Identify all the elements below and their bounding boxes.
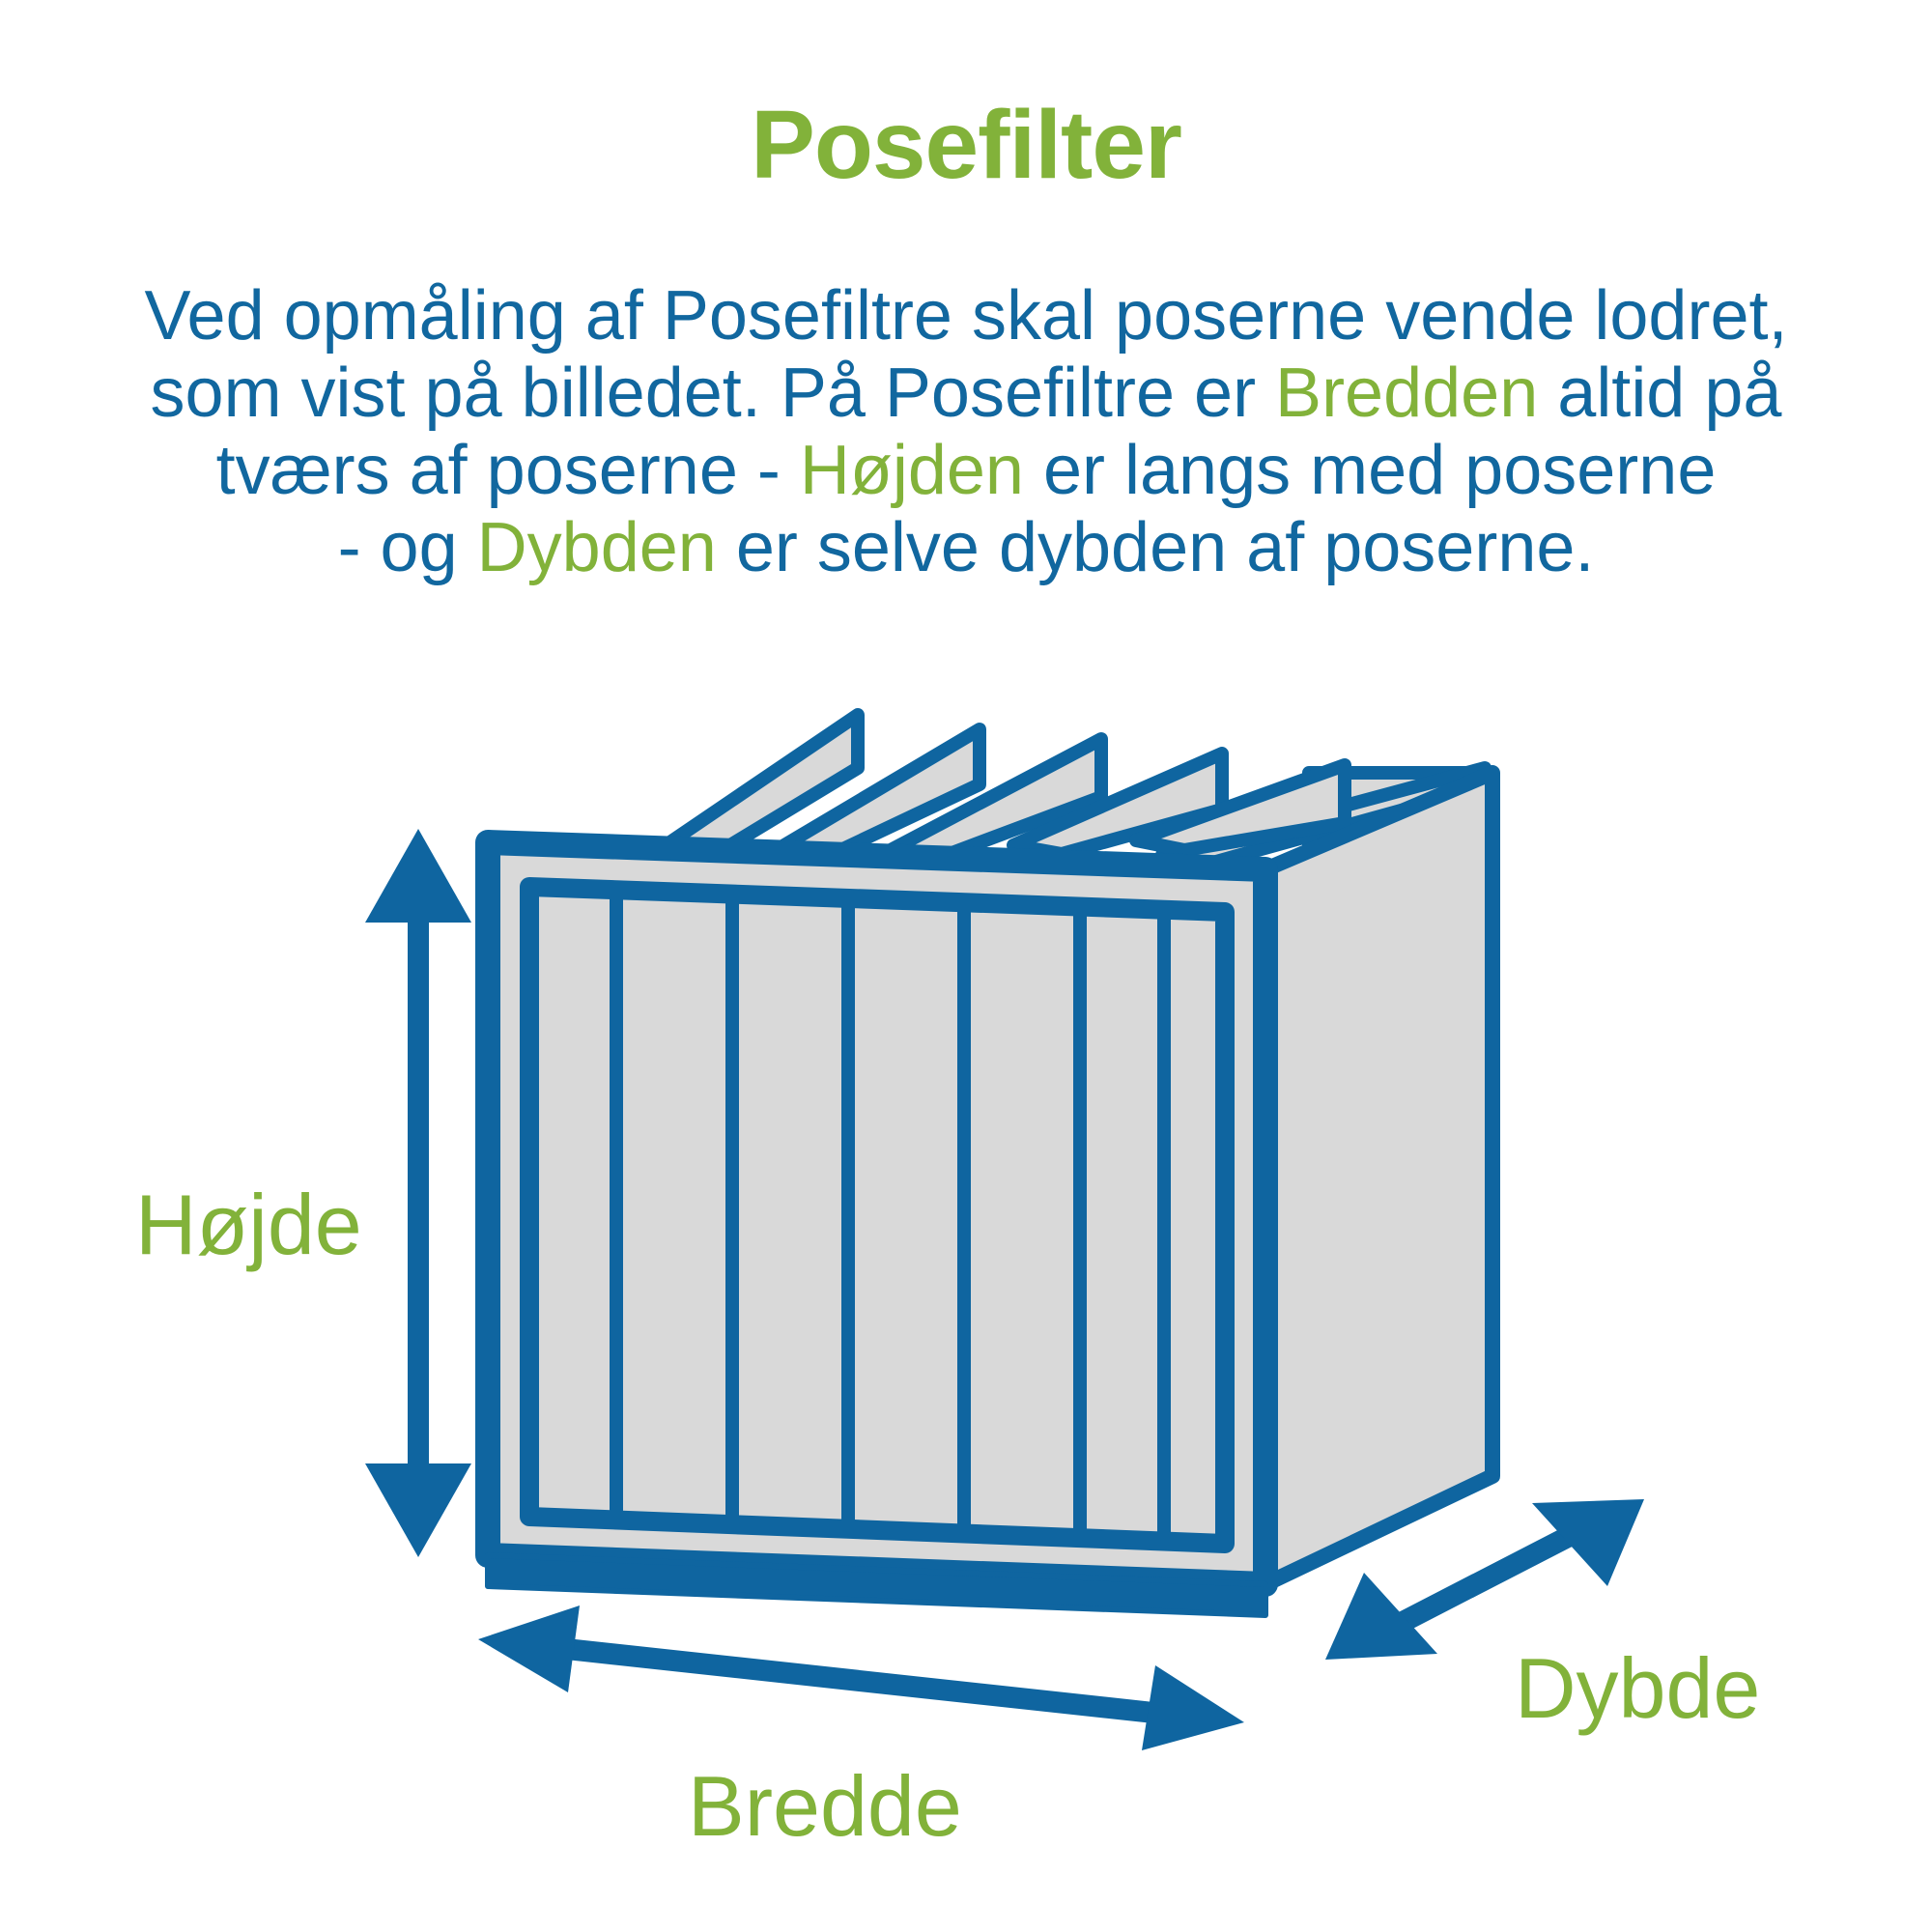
depth-label: Dybde [1515, 1640, 1760, 1736]
filter-front-inner-frame [529, 887, 1225, 1544]
width-label: Bredde [688, 1758, 962, 1854]
right-side-panel [1265, 773, 1492, 1584]
height-arrow [365, 829, 471, 1557]
poster-canvas: Posefilter Ved opmåling af Posefiltre sk… [0, 0, 1932, 1932]
width-arrow [478, 1605, 1244, 1750]
filter-diagram: Højde Bredde Dybde [0, 0, 1932, 1932]
height-label: Højde [135, 1177, 362, 1272]
